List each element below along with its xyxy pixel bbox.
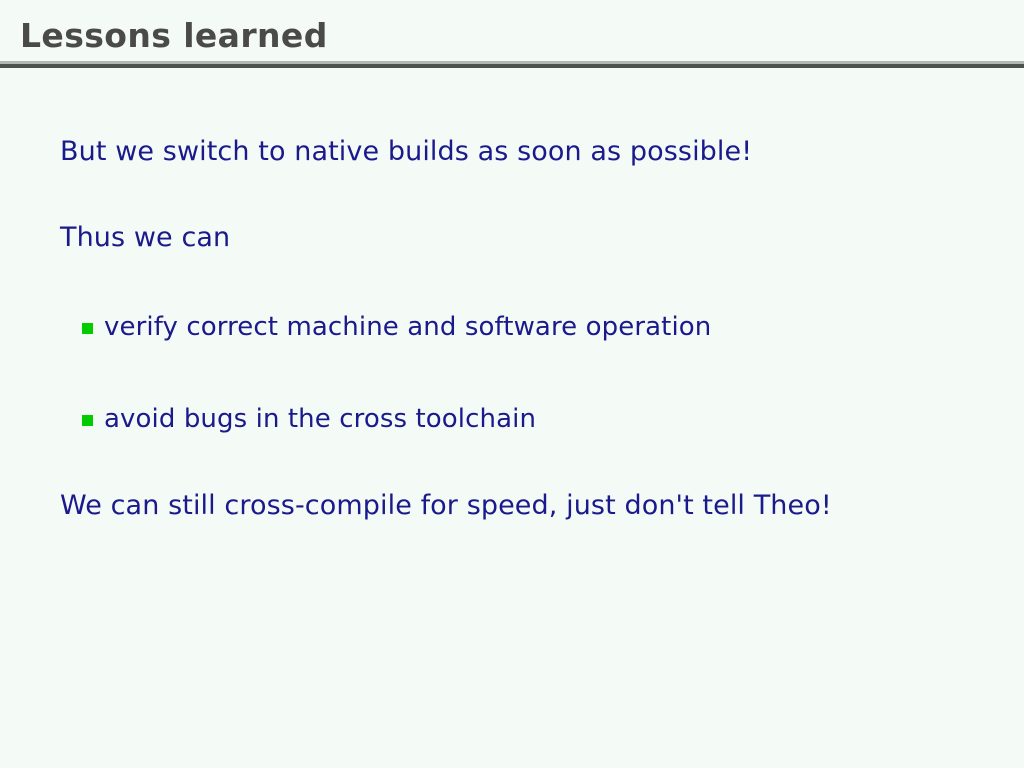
list-item: verify correct machine and software oper… bbox=[82, 310, 711, 344]
green-square-bullet-icon bbox=[82, 415, 93, 426]
green-square-bullet-icon bbox=[82, 323, 93, 334]
title-divider bbox=[0, 61, 1024, 68]
list-item: avoid bugs in the cross toolchain bbox=[82, 402, 536, 436]
body-paragraph-3: We can still cross-compile for speed, ju… bbox=[60, 488, 832, 524]
body-paragraph-1: But we switch to native builds as soon a… bbox=[60, 134, 752, 170]
bullet-item-label: avoid bugs in the cross toolchain bbox=[104, 402, 536, 436]
slide-body: But we switch to native builds as soon a… bbox=[0, 68, 1024, 768]
body-paragraph-2: Thus we can bbox=[60, 220, 230, 256]
page-title: Lessons learned bbox=[20, 14, 328, 58]
slide-canvas: Lessons learned But we switch to native … bbox=[0, 0, 1024, 768]
bullet-item-label: verify correct machine and software oper… bbox=[104, 310, 711, 344]
